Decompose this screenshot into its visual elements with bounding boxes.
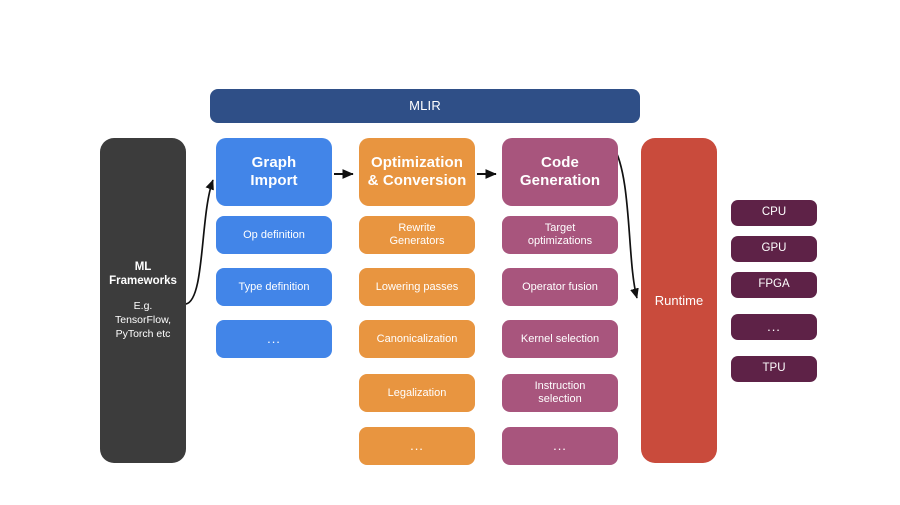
item-op-definition[interactable]: Op definition: [216, 216, 332, 254]
hardware-target-gpu[interactable]: GPU: [731, 236, 817, 262]
hardware-target-tpu[interactable]: TPU: [731, 356, 817, 382]
item-target-optimizations[interactable]: Target optimizations: [502, 216, 618, 254]
diagram-canvas: MLIR ML Frameworks E.g. TensorFlow, PyTo…: [0, 0, 900, 505]
connector-frameworks-to-graph-import: [186, 180, 213, 304]
item-type-definition[interactable]: Type definition: [216, 268, 332, 306]
item-lowering-passes[interactable]: Lowering passes: [359, 268, 475, 306]
stage-code-generation[interactable]: Code Generation: [502, 138, 618, 206]
hardware-target-more[interactable]: ...: [731, 314, 817, 340]
ml-frameworks-title: ML Frameworks: [109, 260, 177, 289]
item-rewrite-generators[interactable]: Rewrite Generators: [359, 216, 475, 254]
runtime-pillar[interactable]: Runtime: [641, 138, 717, 463]
ml-frameworks-examples: E.g. TensorFlow, PyTorch etc: [115, 300, 171, 341]
item-instruction-selection[interactable]: Instruction selection: [502, 374, 618, 412]
hardware-target-fpga[interactable]: FPGA: [731, 272, 817, 298]
item-canonicalization[interactable]: Canonicalization: [359, 320, 475, 358]
item-code-generation-more[interactable]: ...: [502, 427, 618, 465]
stage-graph-import[interactable]: Graph Import: [216, 138, 332, 206]
item-graph-import-more[interactable]: ...: [216, 320, 332, 358]
item-kernel-selection[interactable]: Kernel selection: [502, 320, 618, 358]
item-operator-fusion[interactable]: Operator fusion: [502, 268, 618, 306]
ml-frameworks-pillar[interactable]: ML Frameworks E.g. TensorFlow, PyTorch e…: [100, 138, 186, 463]
mlir-banner[interactable]: MLIR: [210, 89, 640, 123]
item-legalization[interactable]: Legalization: [359, 374, 475, 412]
stage-optimization-conversion[interactable]: Optimization & Conversion: [359, 138, 475, 206]
item-optimization-more[interactable]: ...: [359, 427, 475, 465]
hardware-target-cpu[interactable]: CPU: [731, 200, 817, 226]
